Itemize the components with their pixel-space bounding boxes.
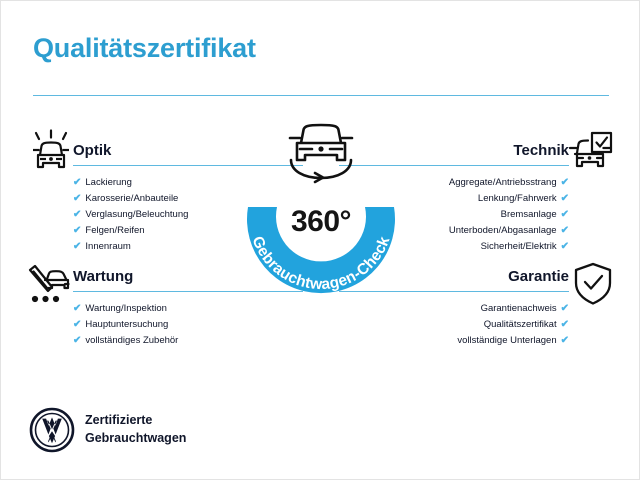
list-item-label: Felgen/Reifen bbox=[85, 225, 144, 236]
vw-logo-icon bbox=[29, 407, 75, 453]
list-item-label: Verglasung/Beleuchtung bbox=[85, 209, 188, 220]
list-item-label: Sicherheit/Elektrik bbox=[481, 241, 557, 252]
check-icon: ✔ bbox=[73, 303, 81, 314]
title-divider bbox=[33, 95, 609, 96]
list-item-label: Bremsanlage bbox=[501, 209, 557, 220]
list-item-label: Unterboden/Abgasanlage bbox=[449, 225, 557, 236]
list-item-label: Lenkung/Fahrwerk bbox=[478, 193, 557, 204]
list-item-label: Lackierung bbox=[85, 177, 131, 188]
check-icon: ✔ bbox=[73, 319, 81, 330]
check-icon: ✔ bbox=[561, 193, 569, 204]
list-item-label: Karosserie/Anbauteile bbox=[85, 193, 178, 204]
list-item: Qualitätszertifikat✔ bbox=[339, 317, 569, 333]
check-icon: ✔ bbox=[561, 225, 569, 236]
shield-check-icon bbox=[569, 261, 617, 307]
vw-label-line2: Gebrauchtwagen bbox=[85, 429, 186, 447]
check-icon: ✔ bbox=[73, 241, 81, 252]
list-item-label: Hauptuntersuchung bbox=[85, 319, 168, 330]
vw-label-line1: Zertifizierte bbox=[85, 411, 186, 429]
list-item-label: Aggregate/Antriebsstrang bbox=[449, 177, 557, 188]
list-item-label: vollständiges Zubehör bbox=[85, 335, 178, 346]
list-item: ✔Hauptuntersuchung bbox=[73, 317, 303, 333]
check-icon: ✔ bbox=[561, 241, 569, 252]
list-item: ✔vollständiges Zubehör bbox=[73, 333, 303, 349]
vw-certified-label: Zertifizierte Gebrauchtwagen bbox=[85, 411, 186, 447]
check-icon: ✔ bbox=[561, 209, 569, 220]
list-item-label: Wartung/Inspektion bbox=[85, 303, 167, 314]
list-item-label: Garantienachweis bbox=[481, 303, 557, 314]
check-icon: ✔ bbox=[561, 177, 569, 188]
badge-center-label: 360° bbox=[226, 205, 416, 239]
check-icon: ✔ bbox=[73, 225, 81, 236]
list-item-label: vollständige Unterlagen bbox=[457, 335, 556, 346]
check-icon: ✔ bbox=[73, 193, 81, 204]
badge-360-gebrauchtwagen-check: Gebrauchtwagen-Check 360° bbox=[226, 113, 416, 313]
list-item-label: Qualitätszertifikat bbox=[484, 319, 557, 330]
check-icon: ✔ bbox=[73, 209, 81, 220]
check-icon: ✔ bbox=[73, 177, 81, 188]
qualitaetszertifikat-page: Qualitätszertifikat Optik ✔Lackier bbox=[0, 0, 640, 480]
check-icon: ✔ bbox=[561, 335, 569, 346]
list-item-label: Innenraum bbox=[85, 241, 130, 252]
page-title: Qualitätszertifikat bbox=[33, 33, 256, 64]
check-icon: ✔ bbox=[73, 335, 81, 346]
car-front-rotate-icon bbox=[279, 113, 363, 185]
check-icon: ✔ bbox=[561, 319, 569, 330]
list-item: vollständige Unterlagen✔ bbox=[339, 333, 569, 349]
check-icon: ✔ bbox=[561, 303, 569, 314]
car-wrench-icon bbox=[25, 263, 73, 309]
car-shine-icon bbox=[27, 129, 75, 175]
car-checkbox-icon bbox=[567, 129, 615, 175]
